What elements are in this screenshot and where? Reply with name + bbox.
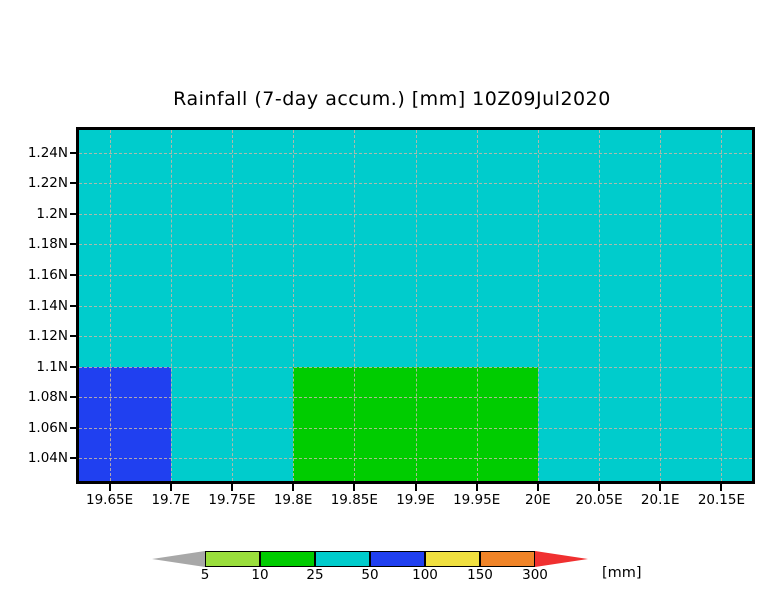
x-axis-tick-mark xyxy=(537,484,539,491)
x-axis-tick-label: 19.8E xyxy=(274,492,313,508)
x-axis-tick-label: 20.05E xyxy=(575,492,622,508)
x-axis-tick-label: 20.1E xyxy=(641,492,680,508)
x-axis-tick-mark xyxy=(476,484,478,491)
x-axis-tick-label: 19.85E xyxy=(331,492,378,508)
x-axis-tick-mark xyxy=(598,484,600,491)
x-axis-tick-label: 19.75E xyxy=(208,492,255,508)
x-axis-tick-mark xyxy=(353,484,355,491)
x-axis-tick-label: 19.65E xyxy=(86,492,133,508)
x-axis-tick-mark xyxy=(292,484,294,491)
x-axis-tick-mark xyxy=(231,484,233,491)
x-axis-tick-label: 20E xyxy=(525,492,551,508)
x-axis-tick-label: 19.7E xyxy=(151,492,190,508)
x-axis-tick-mark xyxy=(659,484,661,491)
x-axis-tick-label: 20.15E xyxy=(698,492,745,508)
x-axis-tick-label: 19.9E xyxy=(396,492,435,508)
x-axis-tick-label: 19.95E xyxy=(453,492,500,508)
x-axis-tick-mark xyxy=(415,484,417,491)
x-axis-tick-mark xyxy=(170,484,172,491)
x-axis: 19.65E19.7E19.75E19.8E19.85E19.9E19.95E2… xyxy=(0,0,784,612)
x-axis-tick-mark xyxy=(720,484,722,491)
x-axis-tick-mark xyxy=(109,484,111,491)
